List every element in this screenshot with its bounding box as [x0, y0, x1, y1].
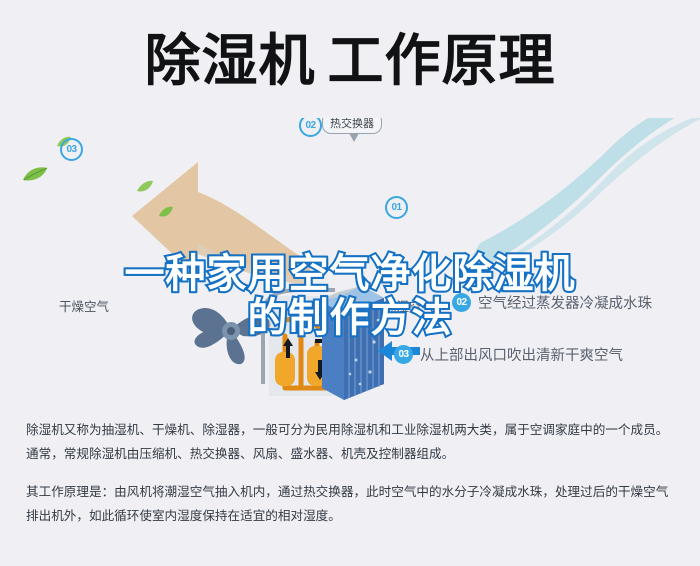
- badge-dry-air: 03: [60, 138, 83, 161]
- label-humid-air: 潮湿空气: [384, 296, 434, 315]
- badge-step-02: 02: [452, 293, 471, 312]
- label-dry-air: 干燥空气: [59, 296, 109, 315]
- dehumidifier-diagram: 水箱 03 干燥空气 02 热交换器 01 潮湿空气 02 空气经过蒸发器冷凝成…: [0, 118, 700, 410]
- leaf-icon: [158, 206, 174, 218]
- article-paragraph-1: 除湿机又称为抽湿机、干燥机、除湿器，一般可分为民用除湿机和工业除湿机两大类，属于…: [26, 418, 676, 466]
- page-title-part1: 除湿机: [145, 33, 316, 89]
- step-text-03: 从上部出风口吹出清新干爽空气: [420, 344, 623, 365]
- page-title-part2: 工作原理: [328, 33, 556, 89]
- article-paragraph-2: 其工作原理是：由风机将潮湿空气抽入机内，通过热交换器，此时空气中的水分子冷凝成水…: [26, 480, 676, 528]
- badge-heat-exchanger: 02: [299, 118, 322, 137]
- step-text-02: 空气经过蒸发器冷凝成水珠: [478, 292, 652, 313]
- leaf-icon: [136, 180, 154, 193]
- dry-air-arrow-icon: [72, 158, 312, 293]
- step-item-02: 02 空气经过蒸发器冷凝成水珠: [452, 292, 652, 313]
- badge-humid-air: 01: [385, 196, 408, 219]
- evaporator-block-icon: [316, 280, 386, 400]
- article-body: 除湿机又称为抽湿机、干燥机、除湿器，一般可分为民用除湿机和工业除湿机两大类，属于…: [26, 418, 676, 542]
- page-title: 除湿机 工作原理: [0, 22, 700, 100]
- humid-air-curve-icon: [400, 118, 700, 308]
- label-heat-exchanger: 热交换器: [322, 118, 382, 134]
- leaf-icon: [22, 166, 48, 182]
- badge-step-03: 03: [394, 345, 413, 364]
- step-item-03: 03 从上部出风口吹出清新干爽空气: [394, 344, 623, 365]
- page-root: 除湿机 工作原理: [0, 0, 700, 566]
